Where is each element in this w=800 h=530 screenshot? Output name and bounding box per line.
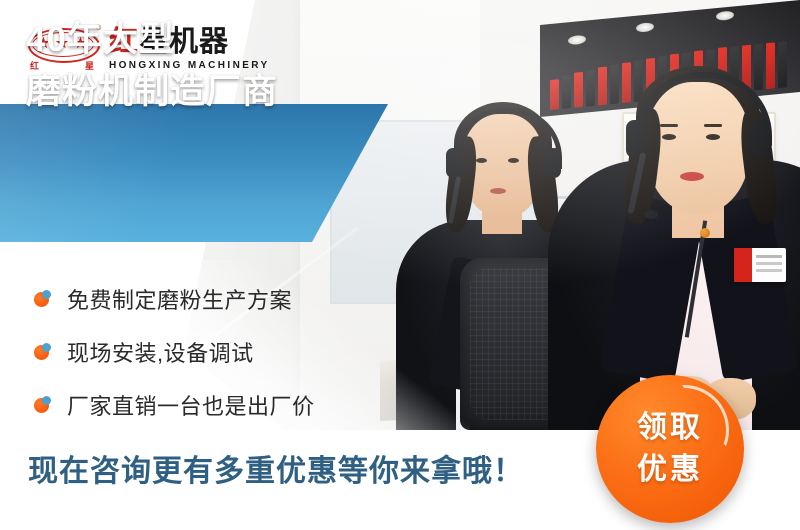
list-item: 现场安装,设备调试 xyxy=(34,325,315,378)
headline-line-2: 磨粉机制造厂商 xyxy=(26,66,278,118)
agent-front xyxy=(548,52,800,430)
cta-line-2: 优惠 xyxy=(637,449,703,491)
id-badge xyxy=(734,248,786,282)
claim-offer-button[interactable]: 领取 优惠 xyxy=(596,375,744,523)
feature-list: 免费制定磨粉生产方案 现场安装,设备调试 厂家直销一台也是出厂价 xyxy=(34,272,315,431)
bullet-dot-icon xyxy=(34,290,51,307)
list-item-label: 厂家直销一台也是出厂价 xyxy=(67,389,315,421)
headline-line-1: 40年大型 xyxy=(26,14,278,66)
list-item: 厂家直销一台也是出厂价 xyxy=(34,378,315,431)
cta-line-1: 领取 xyxy=(637,407,703,449)
promo-slogan: 现在咨询更有多重优惠等你来拿哦！ xyxy=(28,446,524,490)
list-item: 免费制定磨粉生产方案 xyxy=(34,272,315,325)
bullet-dot-icon xyxy=(34,396,51,413)
promo-banner: 红 星 ® 红星机器 HONGXING MACHINERY 40年大型 磨粉机制… xyxy=(0,0,800,530)
headline: 40年大型 磨粉机制造厂商 xyxy=(26,14,278,118)
list-item-label: 免费制定磨粉生产方案 xyxy=(67,283,292,315)
bullet-dot-icon xyxy=(34,343,51,360)
list-item-label: 现场安装,设备调试 xyxy=(67,336,254,368)
